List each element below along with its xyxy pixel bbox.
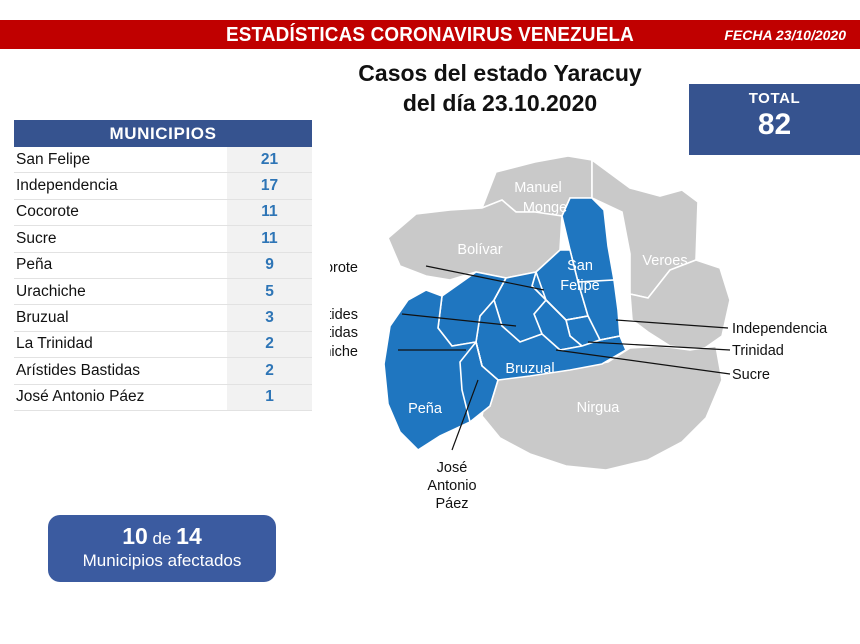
affected-municipalities-badge: 10 de 14 Municipios afectados bbox=[48, 515, 276, 582]
table-cell-municipality: Independencia bbox=[14, 173, 227, 198]
header-date: FECHA 23/10/2020 bbox=[724, 27, 846, 43]
map-callout-aristides-line2: Bastidas bbox=[330, 325, 358, 341]
table-cell-cases: 21 bbox=[227, 147, 312, 172]
page-title-line-2: del día 23.10.2020 bbox=[310, 88, 690, 118]
table-cell-municipality: José Antonio Páez bbox=[14, 385, 227, 410]
map-callout-jap-line3: Páez bbox=[435, 496, 468, 510]
map-label-san-felipe-line1: San bbox=[567, 258, 593, 274]
table-cell-cases: 17 bbox=[227, 173, 312, 198]
yaracuy-state-map: Manuel Monge Bolívar Veroes San Felipe B… bbox=[330, 150, 860, 510]
table-cell-municipality: San Felipe bbox=[14, 147, 227, 172]
table-header-municipios: MUNICIPIOS bbox=[14, 120, 312, 147]
table-cell-municipality: Peña bbox=[14, 253, 227, 278]
map-callout-cocorote: Cocorote bbox=[330, 260, 358, 276]
map-label-manuel-monge-line1: Manuel bbox=[514, 180, 562, 196]
table-cell-cases: 11 bbox=[227, 226, 312, 251]
map-callout-urachiche: Urachiche bbox=[330, 344, 358, 360]
map-callout-sucre: Sucre bbox=[732, 367, 770, 383]
affected-caption: Municipios afectados bbox=[48, 551, 276, 571]
table-row: Urachiche5 bbox=[14, 279, 312, 305]
map-callout-trinidad: Trinidad bbox=[732, 343, 784, 359]
total-value: 82 bbox=[689, 107, 860, 142]
table-cell-cases: 9 bbox=[227, 253, 312, 278]
map-callout-jap-line2: Antonio bbox=[427, 478, 476, 494]
table-cell-cases: 1 bbox=[227, 385, 312, 410]
table-row: Bruzual3 bbox=[14, 305, 312, 331]
page-title-line-1: Casos del estado Yaracuy bbox=[310, 58, 690, 88]
map-label-san-felipe-line2: Felipe bbox=[560, 278, 600, 294]
affected-count-line: 10 de 14 bbox=[48, 523, 276, 551]
map-label-manuel-monge-line2: Monge bbox=[523, 200, 567, 216]
affected-total-value: 14 bbox=[176, 523, 202, 549]
table-row: Arístides Bastidas2 bbox=[14, 358, 312, 384]
table-row: Sucre11 bbox=[14, 226, 312, 252]
map-label-nirgua: Nirgua bbox=[577, 400, 621, 416]
table-cell-cases: 2 bbox=[227, 332, 312, 357]
map-label-veroes: Veroes bbox=[642, 253, 687, 269]
table-row: Cocorote11 bbox=[14, 200, 312, 226]
map-callout-independencia: Independencia bbox=[732, 321, 828, 337]
table-cell-cases: 5 bbox=[227, 279, 312, 304]
table-cell-municipality: Urachiche bbox=[14, 279, 227, 304]
total-cases-box: TOTAL 82 bbox=[689, 84, 860, 155]
table-row: José Antonio Páez1 bbox=[14, 385, 312, 411]
table-body: San Felipe21Independencia17Cocorote11Suc… bbox=[14, 147, 312, 411]
total-label: TOTAL bbox=[689, 90, 860, 107]
municipalities-table: MUNICIPIOS San Felipe21Independencia17Co… bbox=[14, 120, 312, 411]
header-title: ESTADÍSTICAS CORONAVIRUS VENEZUELA bbox=[34, 23, 825, 47]
table-cell-municipality: Bruzual bbox=[14, 305, 227, 330]
table-row: La Trinidad2 bbox=[14, 332, 312, 358]
map-label-bolivar: Bolívar bbox=[457, 242, 502, 258]
table-cell-municipality: La Trinidad bbox=[14, 332, 227, 357]
header-banner: ESTADÍSTICAS CORONAVIRUS VENEZUELA FECHA… bbox=[0, 20, 860, 49]
table-cell-municipality: Arístides Bastidas bbox=[14, 358, 227, 383]
table-cell-cases: 2 bbox=[227, 358, 312, 383]
table-cell-cases: 3 bbox=[227, 305, 312, 330]
table-cell-municipality: Cocorote bbox=[14, 200, 227, 225]
affected-de-word: de bbox=[148, 529, 176, 548]
table-row: Independencia17 bbox=[14, 173, 312, 199]
table-cell-cases: 11 bbox=[227, 200, 312, 225]
table-row: Peña9 bbox=[14, 253, 312, 279]
map-label-bruzual: Bruzual bbox=[505, 361, 554, 377]
table-cell-municipality: Sucre bbox=[14, 226, 227, 251]
map-callout-aristides-line1: Arístides bbox=[330, 307, 358, 323]
map-callout-jap-line1: José bbox=[437, 460, 468, 476]
map-label-pena: Peña bbox=[408, 401, 443, 417]
table-row: San Felipe21 bbox=[14, 147, 312, 173]
page-title: Casos del estado Yaracuy del día 23.10.2… bbox=[310, 58, 690, 119]
affected-count-value: 10 bbox=[122, 523, 148, 549]
